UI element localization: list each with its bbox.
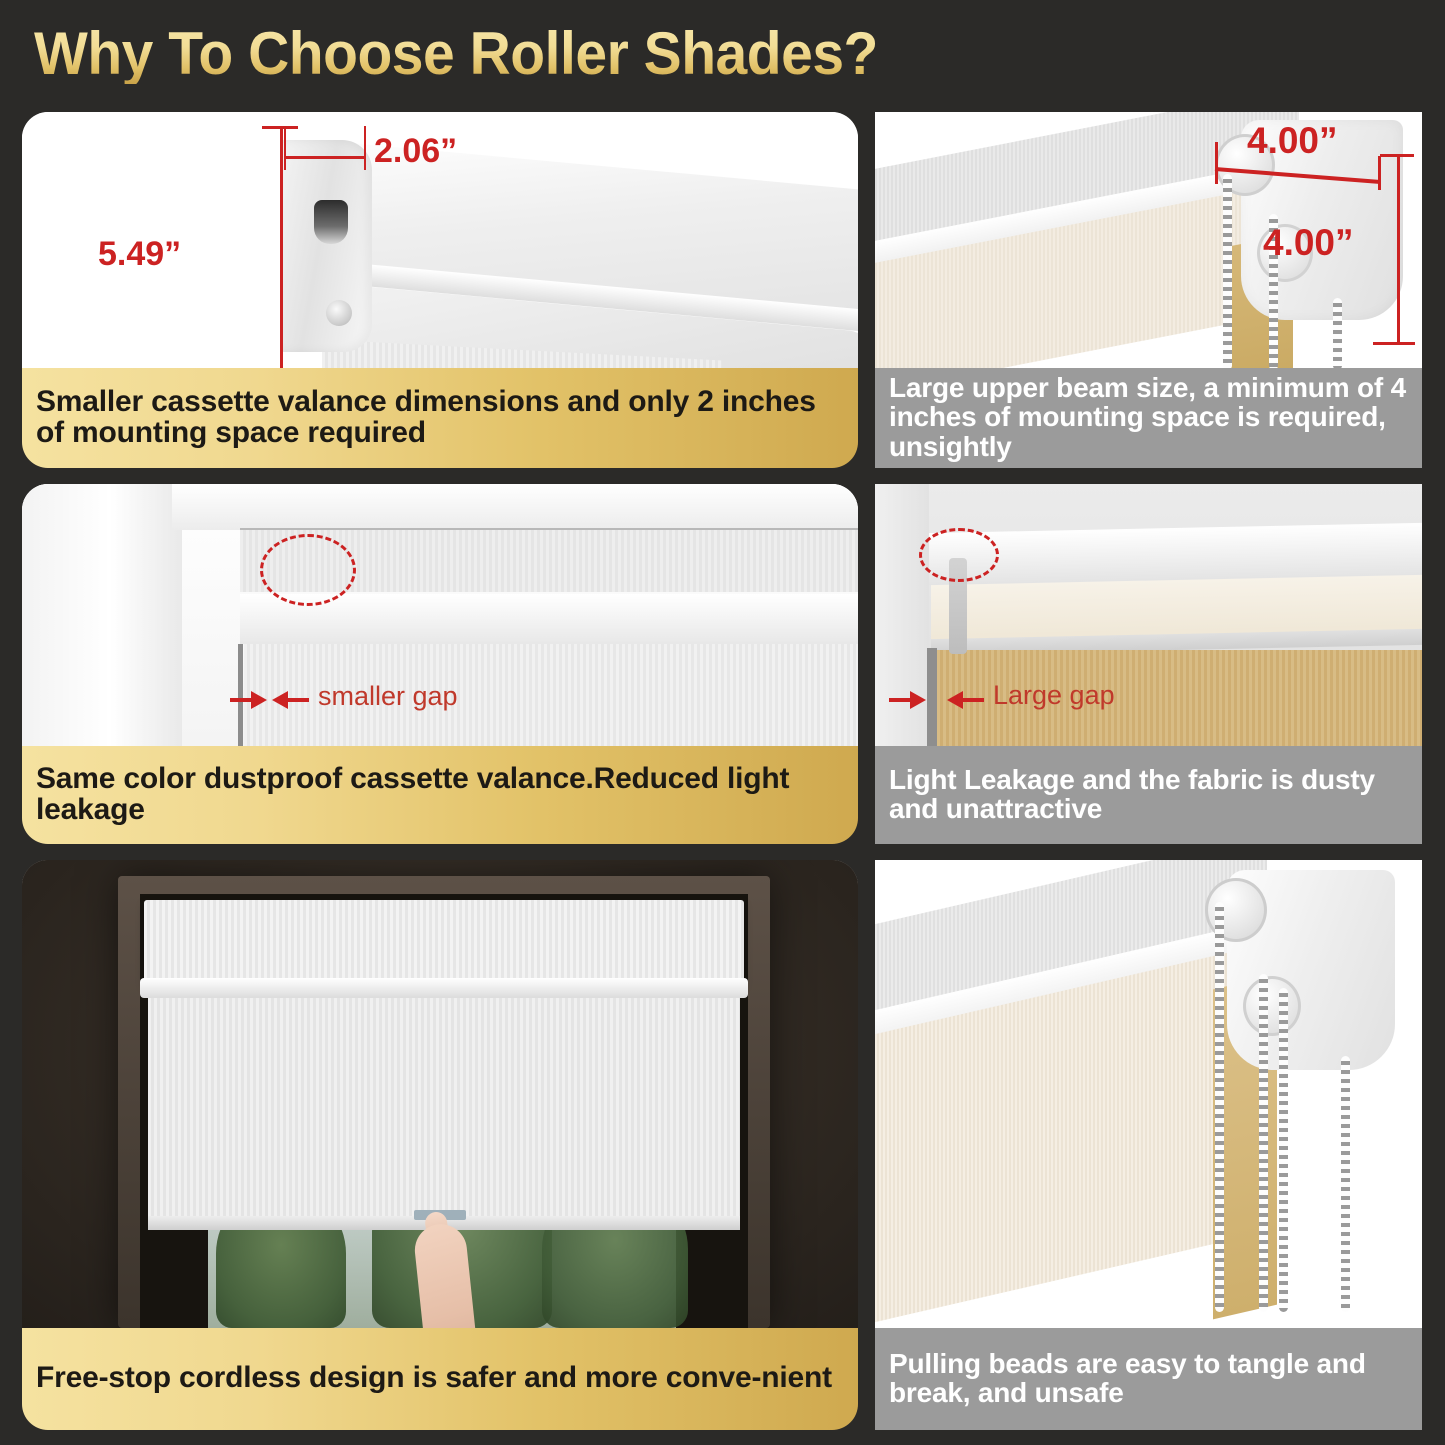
bead-chain-3 [1333, 298, 1342, 368]
page-title-text: Why To Choose Roller Shades? [34, 24, 878, 84]
large-gap-label: Large gap [993, 680, 1115, 711]
panel-6-caption-text: Pulling beads are easy to tangle and bre… [889, 1349, 1408, 1407]
gap-arrow-left-icon [947, 691, 963, 709]
panel-large-upper-beam: 4.00” 4.00” Large upper beam size, a min… [875, 112, 1422, 468]
panel-1-image: 2.06” 5.49” [22, 112, 858, 368]
bead-chain-illustration [875, 860, 1422, 1328]
shade-middle-band [240, 594, 858, 644]
gap-arrow-right-icon [910, 691, 926, 709]
window-frame-left [22, 484, 182, 746]
gap-arrow-right-icon [251, 691, 267, 709]
window-frame-top [172, 484, 858, 530]
cassette-valance-illustration: 2.06” 5.49” [22, 112, 858, 368]
large-gap-edge [927, 648, 937, 746]
dim-width-line [284, 156, 366, 159]
dim-width-tick-right [364, 126, 366, 170]
bracket-slot [314, 200, 348, 244]
bracket-screw [326, 300, 352, 326]
gap-arrow-right-stem [287, 698, 309, 702]
panel-dustproof-valance: smaller gap Same color dustproof cassett… [22, 484, 858, 844]
bead-chain-1 [1215, 902, 1224, 1312]
dim-width-label: 2.06” [374, 132, 457, 171]
panel-3-image: smaller gap [22, 484, 858, 746]
panel-6-caption: Pulling beads are easy to tangle and bre… [875, 1328, 1422, 1430]
panel-3-caption-text: Same color dustproof cassette valance.Re… [36, 763, 844, 825]
window-scene-illustration [22, 860, 858, 1328]
panel-2-caption: Large upper beam size, a minimum of 4 in… [875, 368, 1422, 468]
bead-chain-4 [1341, 1056, 1350, 1312]
smaller-gap-label: smaller gap [318, 681, 458, 712]
dim-height-label: 5.49” [98, 235, 181, 274]
panel-6-image [875, 860, 1422, 1328]
dim2-height-label: 4.00” [1263, 222, 1354, 264]
panel-cordless-design: Free-stop cordless design is safer and m… [22, 860, 858, 1430]
shade-valance [144, 900, 744, 984]
panel-4-caption-text: Light Leakage and the fabric is dusty an… [889, 765, 1408, 823]
shade-valance-lip [140, 978, 748, 998]
dim-height-line [280, 126, 283, 368]
panel-4-caption: Light Leakage and the fabric is dusty an… [875, 746, 1422, 844]
gap-arrow-left-stem [230, 698, 252, 702]
highlight-circle-icon [919, 528, 999, 582]
roller-shade-big-bracket-illustration: 4.00” 4.00” [875, 112, 1422, 368]
panel-5-caption-text: Free-stop cordless design is safer and m… [36, 1362, 832, 1393]
dim-width-tick-left [284, 126, 286, 170]
dim2-width-label: 4.00” [1247, 120, 1338, 162]
panel-smaller-cassette: 2.06” 5.49” Smaller cassette valance dim… [22, 112, 858, 468]
gap-arrow-left-stem [889, 698, 911, 702]
panel-light-leakage: Large gap Light Leakage and the fabric i… [875, 484, 1422, 844]
bead-chain-2 [1259, 974, 1268, 1312]
panel-2-caption-text: Large upper beam size, a minimum of 4 in… [889, 373, 1408, 460]
shade-fabric-body [148, 998, 740, 1220]
dim2-height-tick-top [1380, 154, 1414, 157]
valance-end-bracket [280, 140, 372, 352]
gap-arrow-right-stem [962, 698, 984, 702]
bead-chain-3 [1279, 988, 1288, 1312]
panel-4-image: Large gap [875, 484, 1422, 746]
bead-chain-1 [1223, 174, 1232, 368]
panel-1-caption-text: Smaller cassette valance dimensions and … [36, 386, 844, 448]
smaller-gap-illustration: smaller gap [22, 484, 858, 746]
dim-height-tick-top [262, 126, 298, 129]
panel-pulling-beads: Pulling beads are easy to tangle and bre… [875, 860, 1422, 1430]
panel-5-caption: Free-stop cordless design is safer and m… [22, 1328, 858, 1430]
highlight-circle-icon [260, 534, 356, 606]
infographic-page: Why To Choose Roller Shades? 2.06” [0, 0, 1445, 1445]
comparison-grid: 2.06” 5.49” Smaller cassette valance dim… [22, 112, 1422, 1430]
bracket-drum-lower [1243, 976, 1301, 1036]
large-gap-illustration: Large gap [875, 484, 1422, 746]
gap-edge-line [238, 644, 243, 746]
panel-5-image [22, 860, 858, 1328]
panel-3-caption: Same color dustproof cassette valance.Re… [22, 746, 858, 844]
dim2-width-tick-right [1378, 156, 1381, 190]
gap-arrow-left-icon [272, 691, 288, 709]
dim2-height-line [1397, 154, 1400, 344]
panel-1-caption: Smaller cassette valance dimensions and … [22, 368, 858, 468]
dim2-height-tick-bottom [1373, 342, 1415, 345]
page-title: Why To Choose Roller Shades? [34, 18, 1134, 90]
panel-2-image: 4.00” 4.00” [875, 112, 1422, 368]
dim2-width-tick-left [1215, 142, 1218, 184]
